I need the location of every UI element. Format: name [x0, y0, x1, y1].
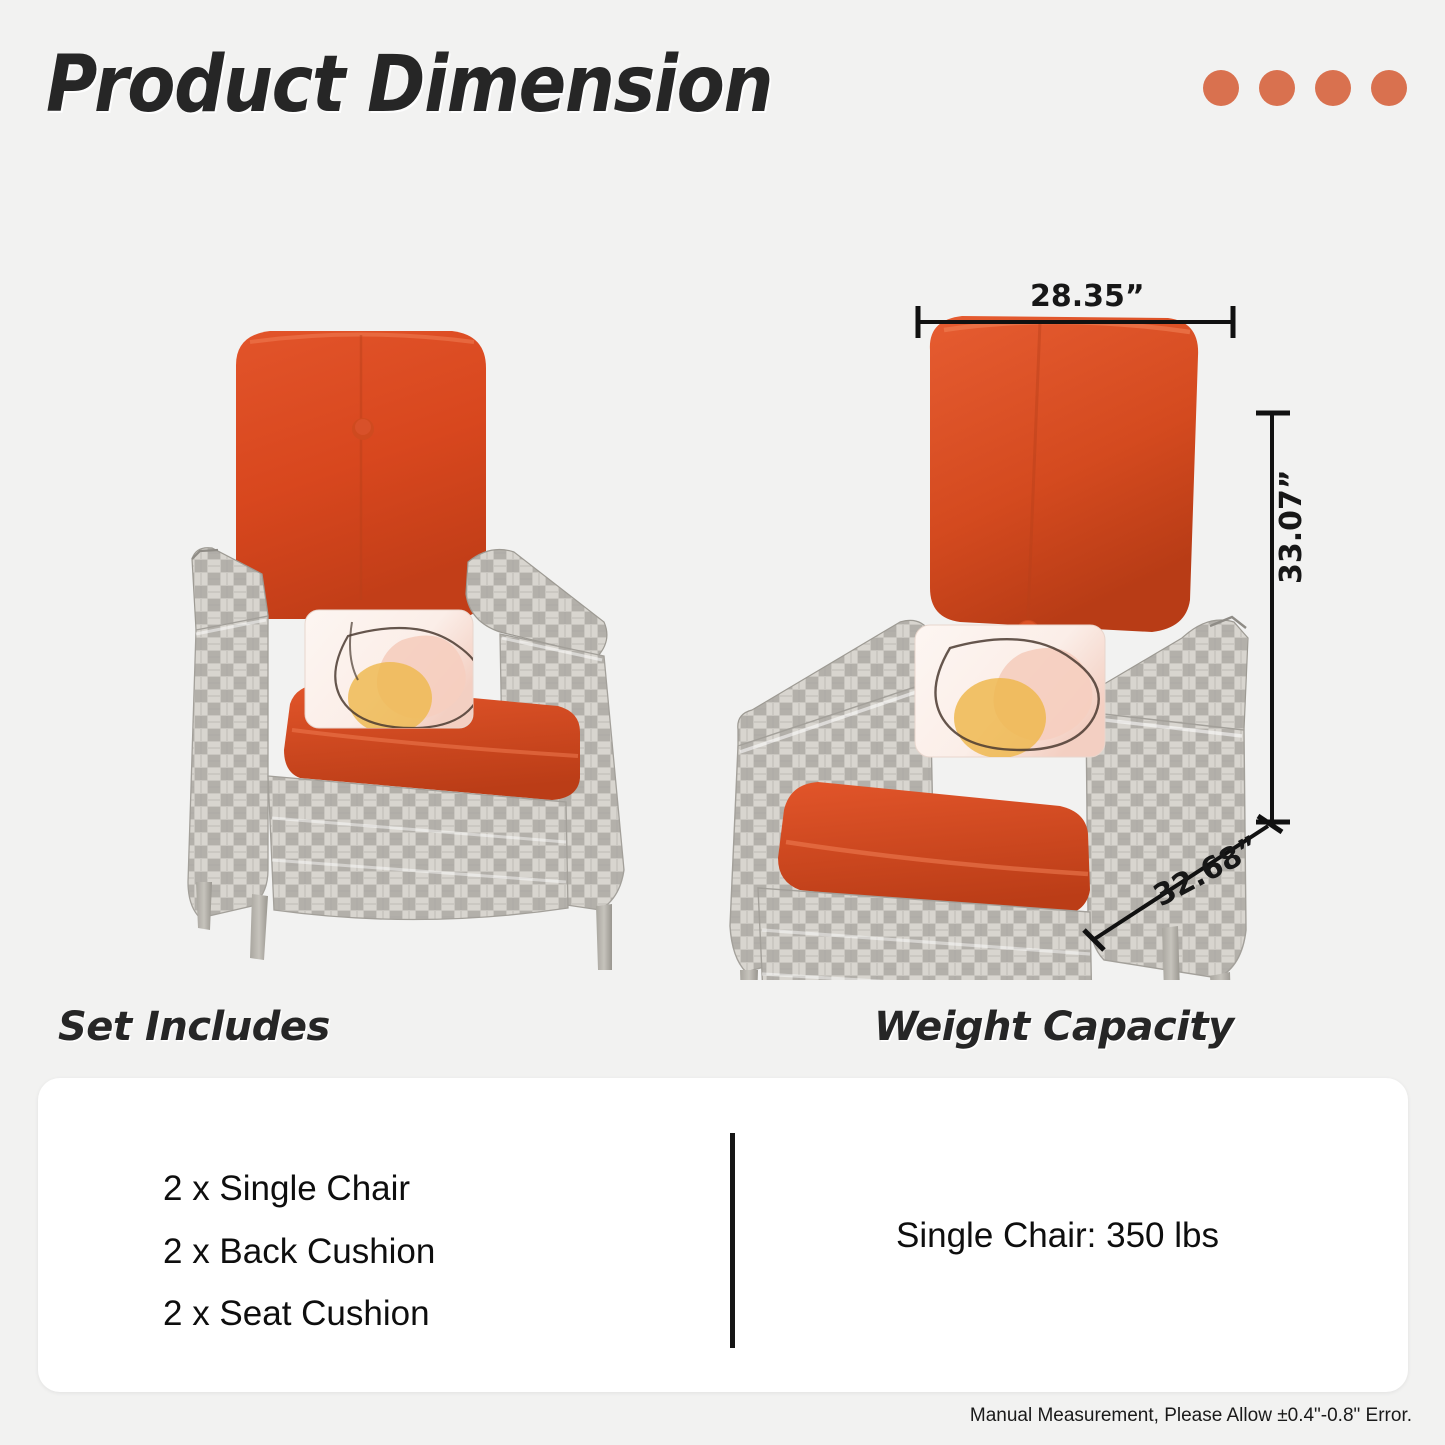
list-item: 2 x Seat Cushion — [163, 1283, 683, 1346]
header-dot-group — [1203, 70, 1407, 106]
set-includes-list: 2 x Single Chair 2 x Back Cushion 2 x Se… — [163, 1158, 683, 1346]
weight-capacity-value: Single Chair: 350 lbs — [896, 1216, 1219, 1256]
card-divider — [730, 1133, 735, 1348]
list-item: 2 x Single Chair — [163, 1158, 683, 1221]
dimension-label-height: 33.07” — [1274, 469, 1309, 584]
decorative-dot-icon — [1203, 70, 1239, 106]
list-item: 2 x Back Cushion — [163, 1221, 683, 1284]
decorative-dot-icon — [1259, 70, 1295, 106]
page-title: Product Dimension — [46, 40, 772, 130]
set-includes-heading: Set Includes — [58, 1004, 330, 1050]
weight-capacity-heading: Weight Capacity — [874, 1004, 1234, 1050]
manual-measurement-note: Manual Measurement, Please Allow ±0.4"-0… — [970, 1405, 1412, 1427]
decorative-dot-icon — [1315, 70, 1351, 106]
dimension-label-width: 28.35” — [1030, 279, 1145, 314]
decorative-dot-icon — [1371, 70, 1407, 106]
